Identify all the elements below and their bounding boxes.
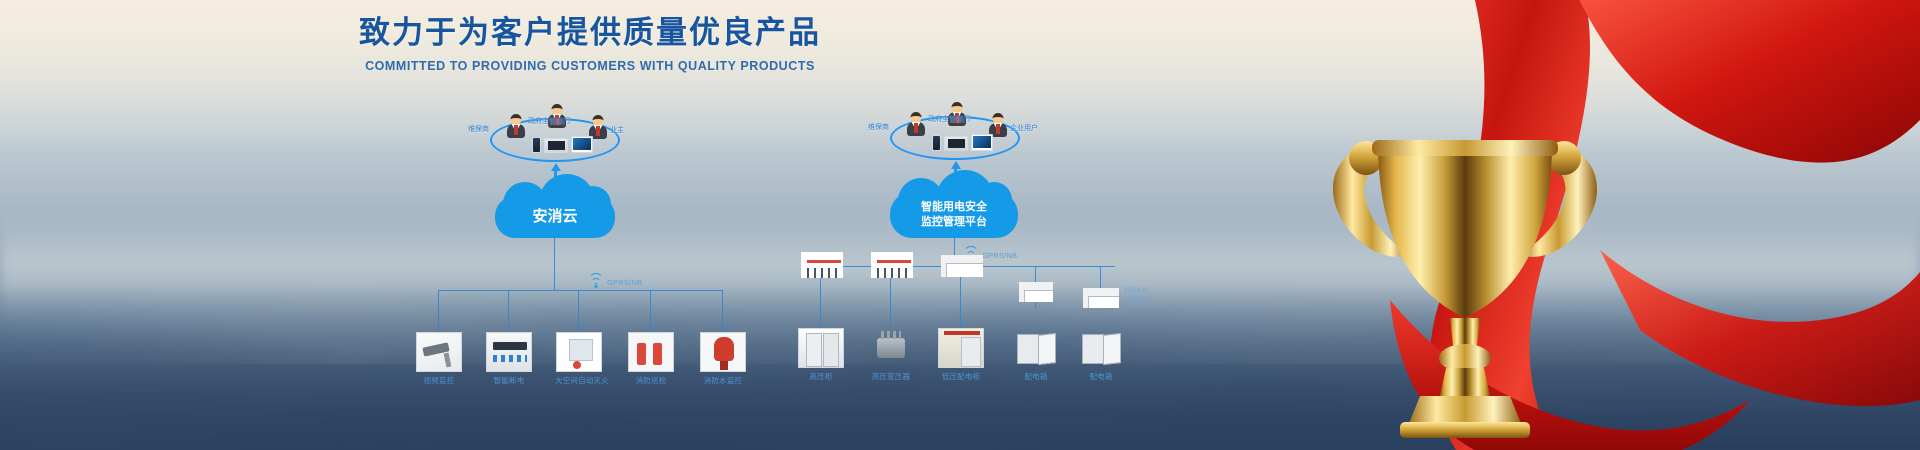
device-caption: 消防巡检 [627, 375, 675, 386]
device-caption: 消防水监控 [699, 375, 747, 386]
device-tile: 配电箱 [1077, 328, 1125, 382]
tile-riser [508, 290, 509, 332]
terminal-module-icon [871, 252, 913, 278]
gprs-link-left: GPRS/NB [588, 277, 642, 288]
camera-icon [416, 332, 462, 372]
device-caption: 智能断电 [485, 375, 533, 386]
desktop-monitor-icon [971, 134, 993, 151]
fire-pump-icon [628, 332, 674, 372]
cloud-label-line1: 智能用电安全 [921, 201, 987, 213]
device-caption: 高压变压器 [867, 371, 915, 382]
client-device-row [932, 134, 993, 151]
right-user-cluster: 维保商 政府主管部门 企业用户 [890, 96, 1020, 162]
lv-switchgear-icon [938, 328, 984, 368]
device-caption: 低压配电柜 [937, 371, 985, 382]
transformer-icon [868, 328, 914, 368]
gprs-label: GPRS/NB [607, 278, 642, 287]
device-tile: 消防水监控 [699, 332, 747, 386]
extinguish-unit-icon [556, 332, 602, 372]
user-label-maintenance: 维保商 [468, 124, 489, 134]
user-avatar [906, 112, 926, 136]
phone-icon [932, 135, 941, 151]
distribution-box-icon [1078, 328, 1124, 368]
cloud-label-line2: 监控管理平台 [921, 216, 987, 228]
laptop-icon [944, 136, 968, 151]
cloud-label: 安消云 [532, 207, 577, 227]
gprs-label: GPRS/NB [982, 251, 1017, 260]
water-tank-icon [700, 332, 746, 372]
device-caption: 大空间自动灭火 [555, 375, 603, 386]
bus-horizontal-left [438, 290, 722, 291]
device-tile: 配电箱 [1012, 328, 1060, 382]
left-user-cluster: 维保商 政府主管部门 业主 [490, 98, 620, 164]
cloud-platform-anxiaoyun: 安消云 [495, 196, 615, 238]
inline-module [800, 252, 844, 278]
wifi-signal-icon [588, 277, 604, 288]
tile-riser [438, 290, 439, 332]
user-label-maintenance: 维保商 [868, 122, 889, 132]
device-tile: 高压变压器 [867, 328, 915, 382]
device-tile: 视频监控 [415, 332, 463, 386]
terminal-module-icon [1083, 288, 1119, 308]
phone-icon [532, 137, 541, 153]
tile-riser [650, 290, 651, 332]
user-label-enterprise: 企业用户 [1010, 123, 1038, 133]
system-architecture-diagram: 维保商 政府主管部门 业主 安消云 GPRS/NB 视频监控 智能断电 [0, 0, 1180, 450]
device-tile: 低压配电柜 [937, 328, 985, 382]
bus-drop-left [554, 238, 555, 290]
device-caption: 高压柜 [797, 371, 845, 382]
cloud-label: 智能用电安全 监控管理平台 [921, 200, 987, 230]
user-avatar [506, 114, 526, 138]
distribution-box-icon [1013, 328, 1059, 368]
inline-module [1082, 288, 1120, 308]
tile-riser [578, 290, 579, 332]
device-tile: 高压柜 [797, 328, 845, 382]
control-panel-icon [486, 332, 532, 372]
inline-module [870, 252, 914, 278]
hv-cabinet-icon [798, 328, 844, 368]
user-label-owner: 业主 [610, 125, 624, 135]
client-device-row [532, 136, 593, 153]
inline-module [1018, 282, 1054, 302]
cloud-platform-power-safety: 智能用电安全 监控管理平台 [890, 192, 1018, 238]
device-tile: 大空间自动灭火 [555, 332, 603, 386]
device-caption: 配电箱 [1077, 371, 1125, 382]
device-caption: 配电箱 [1012, 371, 1060, 382]
inline-module [940, 255, 984, 277]
tile-riser [722, 290, 723, 332]
terminal-module-icon [801, 252, 843, 278]
terminal-module-icon [1019, 282, 1053, 302]
laptop-icon [544, 138, 568, 153]
trophy-icon [1300, 18, 1630, 438]
user-label-government: 政府主管部门 [928, 114, 970, 124]
device-caption: 视频监控 [415, 375, 463, 386]
desktop-monitor-icon [571, 136, 593, 153]
device-tile: 智能断电 [485, 332, 533, 386]
trophy-decoration [1140, 0, 1920, 450]
user-label-government: 政府主管部门 [528, 116, 570, 126]
device-tile: 消防巡检 [627, 332, 675, 386]
terminal-module-icon [941, 255, 983, 277]
